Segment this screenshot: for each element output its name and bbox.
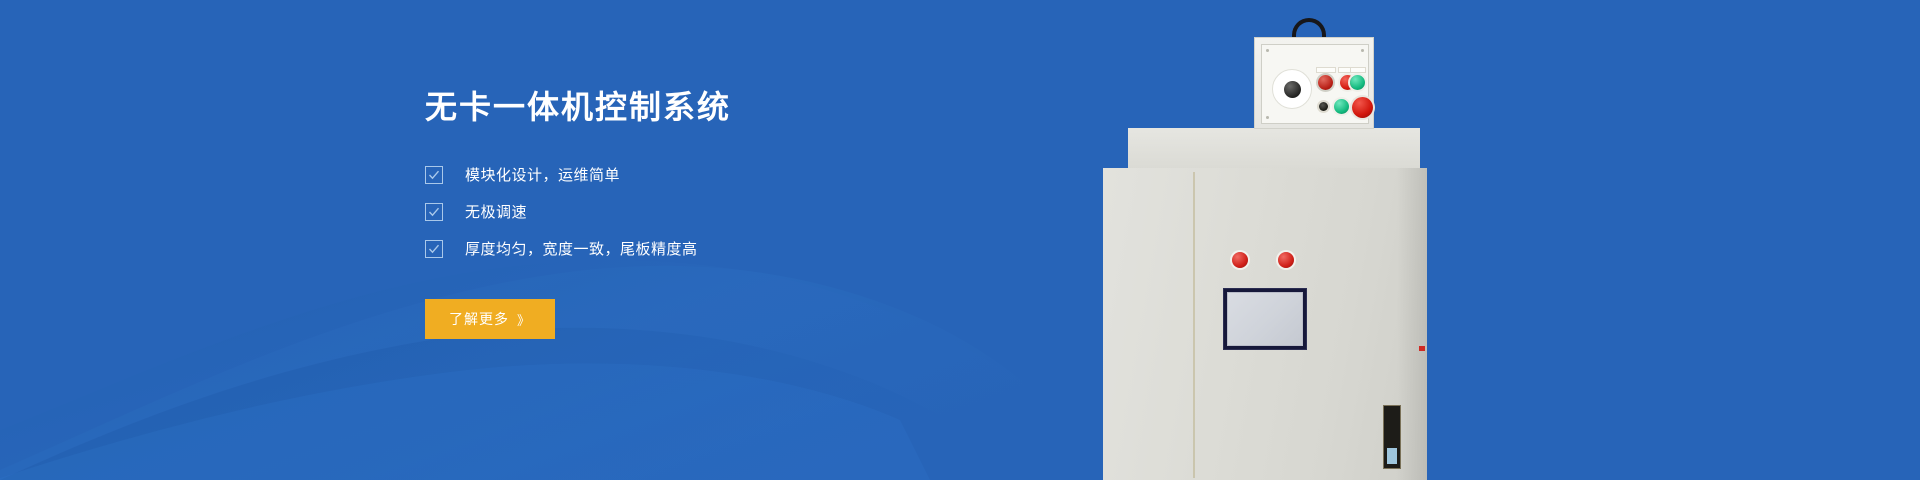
operator-control-panel: [1254, 37, 1374, 129]
cabinet-upper-section: [1128, 128, 1420, 170]
checkbox-checked-icon: [425, 240, 443, 258]
checkbox-checked-icon: [425, 166, 443, 184]
cabinet-handle-label: [1387, 448, 1397, 464]
learn-more-label: 了解更多: [449, 309, 509, 329]
feature-item-1: 模块化设计，运维简单: [425, 164, 985, 185]
feature-item-3: 厚度均匀，宽度一致，尾板精度高: [425, 238, 985, 259]
cabinet-button-red-1: [1232, 252, 1248, 268]
feature-label-1: 模块化设计，运维简单: [465, 164, 620, 185]
control-cable-loop: [1292, 18, 1326, 38]
start-button-green: [1334, 99, 1349, 114]
cabinet-door-handle: [1383, 405, 1401, 469]
feature-label-3: 厚度均匀，宽度一致，尾板精度高: [465, 238, 698, 259]
button-label-plate-1: [1316, 67, 1336, 73]
control-panel-plate: [1261, 44, 1369, 124]
selector-knob-cap: [1284, 81, 1301, 98]
toggle-switch: [1319, 102, 1328, 111]
feature-list: 模块化设计，运维简单 无极调速 厚度均匀，宽度一致，尾板精度高: [425, 164, 985, 259]
hmi-touchscreen: [1223, 288, 1307, 350]
rotary-selector-knob: [1272, 69, 1312, 109]
page-title: 无卡一体机控制系统: [425, 88, 985, 126]
panel-screw-tl: [1266, 49, 1269, 52]
panel-screw-tr: [1361, 49, 1364, 52]
cabinet-button-red-2: [1278, 252, 1294, 268]
checkbox-checked-icon: [425, 203, 443, 221]
cabinet-status-marker: [1419, 346, 1425, 351]
feature-label-2: 无极调速: [465, 201, 527, 222]
push-button-green: [1350, 75, 1365, 90]
button-label-plate-3: [1350, 67, 1366, 73]
button-label-plate-2: [1338, 67, 1358, 73]
emergency-stop-button: [1352, 97, 1373, 118]
feature-item-2: 无极调速: [425, 201, 985, 222]
cabinet-door-seam: [1193, 172, 1195, 478]
hmi-screen-surface: [1227, 292, 1303, 346]
panel-screw-br: [1361, 116, 1364, 119]
push-button-red: [1340, 75, 1355, 90]
cabinet-main-body: [1103, 168, 1427, 480]
hero-banner: 无卡一体机控制系统 模块化设计，运维简单 无极调速: [0, 0, 1920, 480]
indicator-lamp-red: [1318, 75, 1333, 90]
panel-screw-bl: [1266, 116, 1269, 119]
cabinet-side-shading: [1397, 168, 1427, 480]
learn-more-button[interactable]: 了解更多 》: [425, 299, 555, 339]
double-chevron-right-icon: 》: [517, 310, 531, 329]
hero-content: 无卡一体机控制系统 模块化设计，运维简单 无极调速: [425, 88, 985, 339]
